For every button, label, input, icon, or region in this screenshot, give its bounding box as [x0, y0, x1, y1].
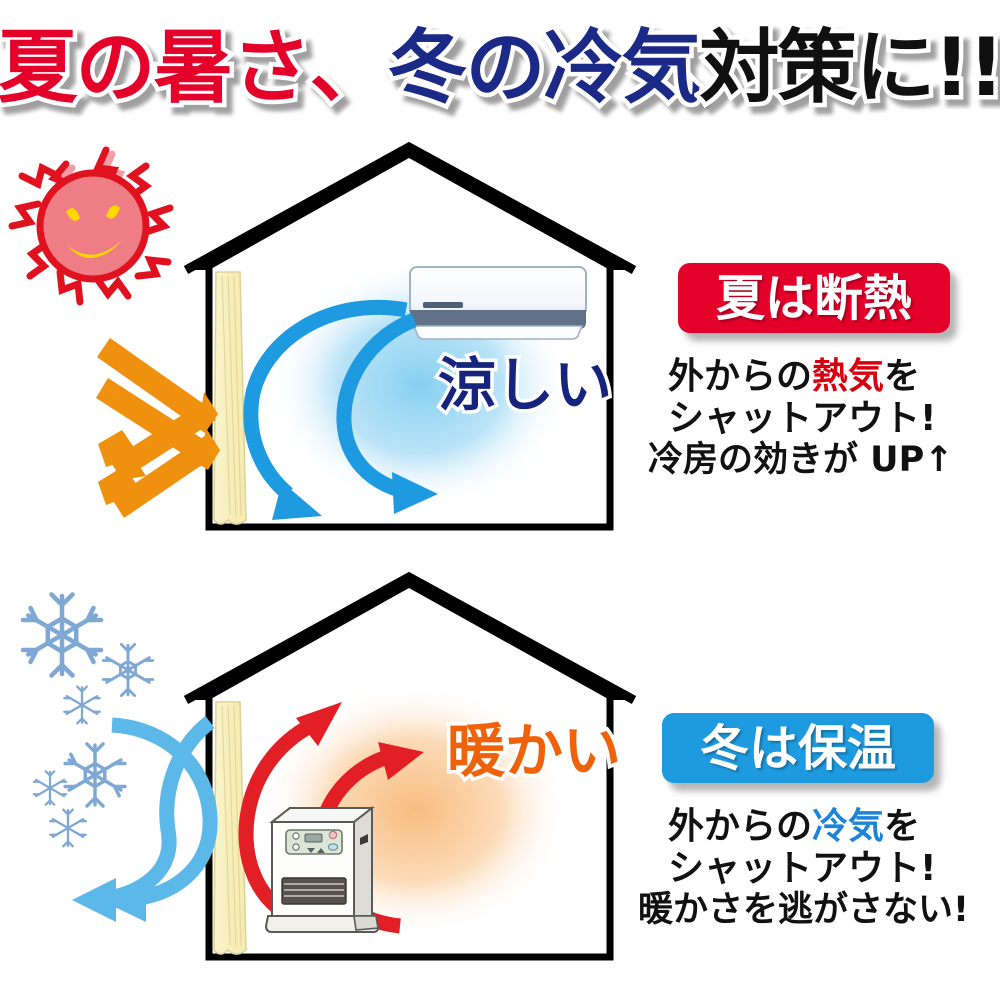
page-title: 夏の暑さ、 冬の冷気 対策に!!: [0, 16, 1000, 120]
cold-air-arrows-icon: [110, 722, 210, 898]
headline-part-summer: 夏の暑さ、: [0, 28, 388, 108]
summer-desc-line-1: 外からの熱気を: [668, 356, 954, 398]
summer-description: 外からの熱気を シャットアウト! 冷房の効きが UP↑: [660, 356, 954, 481]
badge-summer-label: 夏は断熱: [716, 274, 912, 323]
badge-winter-label: 冬は保温: [700, 724, 896, 773]
winter-desc-1b: を: [884, 806, 920, 847]
angry-sun-icon: [12, 150, 170, 302]
badge-winter: 冬は保温: [662, 713, 934, 783]
air-conditioner-icon: [410, 267, 586, 339]
winter-desc-line-1: 外からの冷気を: [668, 806, 969, 848]
curtain-icon: [214, 272, 246, 524]
summer-desc-line-3: 冷房の効きが UP↑: [648, 440, 954, 481]
winter-desc-line-3: 暖かさを逃がさない!: [638, 890, 969, 931]
headline-part-measure: 対策に!!: [700, 28, 1000, 108]
cold-air-arrowheads-icon: [72, 878, 146, 922]
winter-desc-1a: 外からの: [668, 806, 812, 847]
infographic-canvas: 夏の暑さ、 冬の冷気 対策に!!: [0, 0, 1000, 1000]
winter-desc-line-2: シャットアウト!: [668, 848, 969, 890]
winter-desc-1-emphasis: 冷気: [812, 806, 884, 847]
warm-room-label: 暖かい: [447, 722, 621, 780]
heat-ray-arrows-icon: [96, 338, 220, 518]
winter-description: 外からの冷気を シャットアウト! 暖かさを逃がさない!: [660, 806, 969, 931]
summer-desc-1-emphasis: 熱気: [812, 356, 884, 397]
badge-summer: 夏は断熱: [678, 263, 950, 333]
summer-desc-line-2: シャットアウト!: [668, 398, 954, 440]
summer-scene: [0, 130, 670, 550]
fan-heater-icon: [266, 792, 378, 932]
cool-room-label: 涼しい: [438, 356, 612, 414]
headline-part-winter: 冬の冷気: [388, 28, 700, 108]
summer-desc-1b: を: [884, 356, 920, 397]
summer-desc-1a: 外からの: [668, 356, 812, 397]
